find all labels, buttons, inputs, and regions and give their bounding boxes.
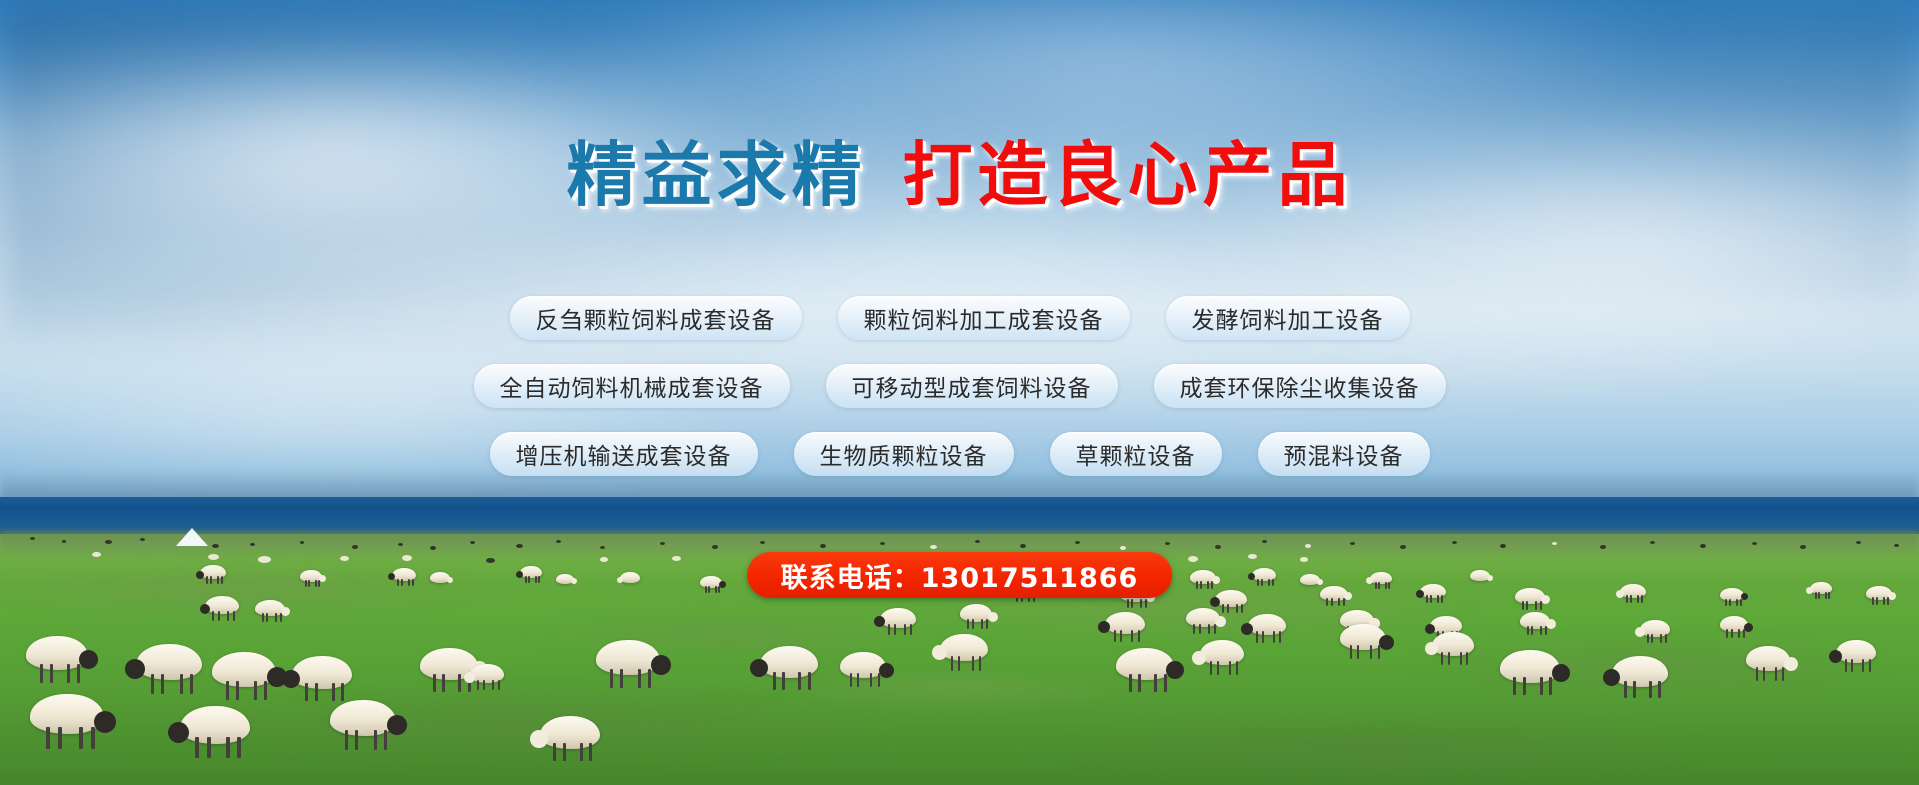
sheep-leg [894, 624, 896, 635]
sheep-leg [1660, 634, 1662, 643]
sheep-leg [79, 727, 83, 749]
sheep-leg [1876, 597, 1878, 605]
distant-livestock-speck [1856, 541, 1861, 544]
sheep-leg [1350, 645, 1352, 659]
sheep-leg [1140, 599, 1142, 608]
sheep-leg [210, 576, 212, 584]
sheep-leg [67, 664, 70, 683]
sheep-leg [1236, 604, 1238, 613]
sheep-leg [433, 674, 436, 692]
distant-livestock-speck [672, 556, 681, 561]
distant-livestock-speck [140, 538, 145, 541]
sheep-head [200, 604, 210, 614]
sheep-head [1616, 590, 1624, 598]
contact-phone-bar[interactable]: 联系电话：13017511866 [747, 552, 1173, 598]
product-pill-fanchu[interactable]: 反刍颗粒饲料成套设备 [510, 296, 802, 340]
distant-livestock-speck [1075, 541, 1080, 544]
product-pill-keli-jiagong[interactable]: 颗粒饲料加工成套设备 [838, 296, 1130, 340]
sheep-leg [1200, 581, 1202, 589]
sheep-leg [1138, 674, 1141, 692]
sheep-leg [397, 579, 399, 586]
sheep-leg [236, 681, 239, 700]
product-pill-caokeli[interactable]: 草颗粒设备 [1050, 432, 1222, 476]
sheep-leg [1665, 634, 1667, 643]
headline: 精益求精打造良心产品 [0, 140, 1919, 210]
sheep-leg [50, 664, 53, 683]
sheep-leg [374, 730, 377, 750]
sheep-leg [1114, 630, 1116, 642]
distant-livestock-speck [660, 542, 665, 545]
sheep-head [1744, 623, 1753, 632]
sheep-leg [262, 613, 264, 622]
distant-livestock-speck [975, 540, 980, 543]
sheep-leg [1145, 599, 1147, 608]
distant-livestock-speck [600, 557, 608, 562]
sheep-leg [1279, 631, 1281, 643]
sheep-leg [525, 576, 527, 583]
product-pill-quanzidong[interactable]: 全自动饲料机械成套设备 [474, 364, 790, 408]
sheep-head [1192, 651, 1206, 665]
sheep-leg [1540, 677, 1543, 695]
sheep-leg [161, 674, 164, 694]
sheep-leg [1649, 681, 1652, 698]
sheep-leg [91, 727, 95, 749]
sheep-head [1784, 657, 1798, 671]
sheep-head [530, 730, 548, 748]
sheep-leg [151, 674, 154, 694]
sheep-leg [580, 743, 583, 761]
sheep-leg [1210, 661, 1212, 675]
sheep-leg [1845, 659, 1847, 672]
sheep-head [1635, 627, 1645, 637]
sheep-leg [1164, 674, 1167, 692]
sheep-leg [355, 730, 358, 750]
sheep-head [932, 645, 947, 660]
sheep-leg [1388, 582, 1390, 589]
sheep-leg [401, 579, 403, 586]
distant-livestock-speck [1248, 554, 1257, 559]
sheep-head [651, 655, 671, 675]
distant-livestock-speck [486, 558, 495, 563]
sheep-leg [1872, 597, 1874, 605]
sheep-leg [1129, 674, 1132, 692]
distant-livestock-speck [1752, 542, 1757, 545]
sheep-leg [1782, 667, 1784, 681]
sheep-leg [217, 576, 219, 584]
sheep-leg [46, 727, 50, 749]
sheep-leg [1437, 595, 1439, 603]
sheep-leg [553, 743, 556, 761]
sheep-leg [1196, 581, 1198, 589]
sheep-leg [705, 586, 707, 593]
distant-livestock-speck [1452, 541, 1457, 544]
sheep-leg [1535, 601, 1537, 610]
distant-livestock-speck [1165, 542, 1170, 545]
sheep-leg [483, 680, 485, 690]
sheep-head [94, 711, 116, 733]
sheep-leg [384, 730, 387, 750]
sheep-leg [1637, 595, 1639, 603]
sheep-leg [1261, 579, 1263, 586]
sheep-leg [237, 737, 241, 758]
distant-livestock-speck [340, 556, 349, 561]
distant-livestock-speck [92, 552, 101, 557]
sheep-leg [412, 579, 414, 586]
distant-livestock-speck [1650, 541, 1655, 544]
sheep-leg [341, 683, 344, 701]
distant-livestock-speck [1500, 544, 1506, 548]
sheep-leg [1743, 629, 1745, 638]
sheep-leg [1222, 604, 1224, 613]
sheep-leg [538, 576, 540, 583]
sheep-leg [1273, 631, 1275, 643]
distant-livestock-speck [352, 545, 358, 549]
sheep-leg [1869, 659, 1871, 672]
sheep-leg [782, 672, 785, 690]
sheep-leg [1214, 624, 1216, 634]
distant-livestock-speck [712, 545, 718, 549]
sheep-leg [1154, 674, 1157, 692]
sheep-leg [1326, 598, 1328, 606]
sheep-leg [1729, 599, 1731, 606]
sheep-leg [315, 683, 318, 701]
product-pill-huanbao-chuchen[interactable]: 成套环保除尘收集设备 [1154, 364, 1446, 408]
sheep-leg [1127, 599, 1129, 608]
sheep-leg [233, 611, 235, 621]
sheep-leg [535, 576, 537, 583]
sheep-leg [808, 672, 811, 690]
sheep-head [125, 659, 145, 679]
sheep-leg [1647, 634, 1649, 643]
sheep-head [988, 612, 998, 622]
sheep-leg [1549, 677, 1552, 695]
distant-livestock-speck [1350, 542, 1355, 545]
sheep-leg [1545, 626, 1547, 635]
sheep-leg [1736, 599, 1738, 606]
promotional-banner: 精益求精打造良心产品 反刍颗粒饲料成套设备 颗粒饲料加工成套设备 发酵饲料加工设… [0, 0, 1919, 785]
sheep-leg [610, 669, 613, 688]
sheep-leg [1441, 652, 1443, 665]
sheep-leg [563, 743, 566, 761]
distant-livestock-speck [760, 541, 765, 544]
sheep-head [1487, 575, 1493, 581]
sheep-leg [1207, 581, 1209, 589]
sheep-head [282, 670, 300, 688]
sheep-leg [318, 580, 320, 587]
product-category-list: 反刍颗粒饲料成套设备 颗粒饲料加工成套设备 发酵饲料加工设备 全自动饲料机械成套… [0, 296, 1919, 500]
sheep-leg [1726, 629, 1728, 638]
sheep-leg [951, 656, 953, 671]
distant-livestock-speck [402, 555, 412, 561]
headline-red-text: 打造良心产品 [903, 134, 1353, 216]
distant-livestock-speck [1305, 544, 1311, 548]
sheep-leg [1199, 624, 1201, 634]
sheep-leg [1731, 629, 1733, 638]
sheep-leg [986, 619, 988, 629]
distant-livestock-speck [62, 540, 66, 543]
sheep-leg [1883, 597, 1885, 605]
distant-livestock-speck [470, 541, 475, 544]
sheep-head [1829, 650, 1842, 663]
sheep-head [447, 577, 453, 583]
sheep-leg [1658, 681, 1661, 698]
sheep-leg [1825, 592, 1827, 599]
sheep-leg [1229, 661, 1231, 675]
sheep-leg [798, 672, 801, 690]
sheep-head [1215, 616, 1226, 627]
sheep-head [617, 577, 623, 583]
sheep-leg [1257, 579, 1259, 586]
sheep-leg [195, 737, 199, 758]
sheep-leg [206, 576, 208, 584]
sheep-head [281, 607, 290, 616]
sheep-leg [1523, 677, 1526, 695]
sheep-head [196, 571, 204, 579]
sheep-leg [275, 613, 277, 622]
product-pill-keyidong[interactable]: 可移动型成套饲料设备 [826, 364, 1118, 408]
sheep-leg [408, 579, 410, 586]
sheep-leg [77, 664, 80, 683]
sheep-head [387, 715, 407, 735]
distant-livestock-speck [1188, 556, 1198, 562]
sheep-leg [878, 673, 880, 687]
headline-blue-text: 精益求精 [567, 134, 867, 216]
sheep-head [464, 672, 475, 683]
sheep-leg [207, 737, 211, 758]
sheep-leg [40, 664, 43, 683]
sheep-leg [1430, 595, 1432, 603]
sheep-leg [442, 674, 445, 692]
sheep-leg [498, 680, 500, 690]
sheep-leg [1513, 677, 1516, 695]
sheep-leg [1138, 630, 1140, 642]
distant-livestock-speck [212, 544, 219, 548]
sheep-leg [1851, 659, 1853, 672]
sheep-head [1552, 664, 1570, 682]
sheep-leg [1527, 626, 1529, 635]
sheep-leg [1522, 601, 1524, 610]
distant-livestock-speck [430, 546, 436, 550]
sheep-leg [958, 656, 960, 671]
sheep-leg [1756, 667, 1758, 681]
distant-livestock-speck [1894, 544, 1899, 547]
product-row-1: 反刍颗粒饲料成套设备 颗粒饲料加工成套设备 发酵饲料加工设备 [0, 296, 1919, 340]
sheep-leg [218, 611, 220, 621]
distant-livestock-speck [1700, 544, 1706, 548]
sheep-leg [1241, 604, 1243, 613]
sheep-leg [1426, 595, 1428, 603]
sheep-leg [1633, 681, 1636, 698]
distant-livestock-speck [30, 537, 35, 540]
sheep-leg [1375, 582, 1377, 589]
distant-livestock-speck [1120, 546, 1126, 550]
sheep-leg [1460, 652, 1462, 665]
sheep-leg [1540, 601, 1542, 610]
sheep-leg [1626, 595, 1628, 603]
sheep-leg [58, 727, 62, 749]
sheep-leg [1378, 645, 1380, 659]
sheep-leg [1385, 582, 1387, 589]
product-pill-yuhunliao[interactable]: 预混料设备 [1258, 432, 1430, 476]
sheep-leg [315, 580, 317, 587]
distant-livestock-speck [1215, 545, 1221, 549]
product-pill-shengwuzhi[interactable]: 生物质颗粒设备 [794, 432, 1014, 476]
sheep-leg [1725, 599, 1727, 606]
sheep-leg [1630, 595, 1632, 603]
sheep-leg [589, 743, 592, 761]
sheep-leg [1343, 598, 1345, 606]
sheep-leg [773, 672, 776, 690]
sheep-leg [972, 656, 974, 671]
distant-livestock-speck [556, 540, 561, 543]
sheep-leg [972, 619, 974, 629]
sheep-head [1317, 579, 1323, 585]
distant-livestock-speck [1400, 545, 1406, 549]
distant-livestock-speck [1262, 540, 1267, 543]
sheep-head [1425, 642, 1438, 655]
sheep-leg [332, 683, 335, 701]
sheep-leg [1120, 630, 1122, 642]
distant-livestock-speck [820, 544, 826, 548]
sheep-head [1416, 590, 1424, 598]
sheep-leg [718, 586, 720, 593]
product-pill-zengyaji[interactable]: 增压机输送成套设备 [490, 432, 758, 476]
product-row-3: 增压机输送成套设备 生物质颗粒设备 草颗粒设备 预混料设备 [0, 432, 1919, 476]
sheep-leg [305, 580, 307, 587]
sheep-leg [180, 674, 183, 694]
sheep-head [1541, 595, 1550, 604]
sheep-leg [305, 683, 308, 701]
distant-livestock-speck [880, 542, 885, 545]
sheep-leg [910, 624, 912, 635]
sheep-leg [850, 673, 852, 687]
distant-livestock-speck [208, 554, 219, 560]
yurt-tent [176, 528, 208, 546]
distant-livestock-speck [1600, 545, 1606, 549]
sheep-leg [1272, 579, 1274, 586]
sheep-leg [190, 674, 193, 694]
distant-livestock-speck [600, 546, 605, 549]
sheep-leg [1331, 598, 1333, 606]
sheep-leg [1763, 667, 1765, 681]
sheep-leg [967, 619, 969, 629]
distant-livestock-speck [1552, 542, 1557, 545]
distant-livestock-speck [105, 540, 112, 544]
sheep-leg [981, 619, 983, 629]
sheep-leg [254, 681, 257, 700]
sheep-leg [280, 613, 282, 622]
distant-livestock-speck [1800, 545, 1806, 549]
sheep [620, 572, 640, 583]
distant-livestock-speck [1300, 557, 1308, 562]
sheep-leg [345, 730, 348, 750]
distant-livestock-speck [250, 543, 255, 546]
distant-livestock-speck [516, 544, 523, 548]
sheep-leg [1236, 661, 1238, 675]
product-pill-fajiao[interactable]: 发酵饲料加工设备 [1166, 296, 1410, 340]
sheep-head [1546, 619, 1556, 629]
sheep-leg [888, 624, 890, 635]
sheep-leg [620, 669, 623, 688]
sheep-leg [1624, 681, 1627, 698]
sheep-leg [1540, 626, 1542, 635]
product-row-2: 全自动饲料机械成套设备 可移动型成套饲料设备 成套环保除尘收集设备 [0, 364, 1919, 408]
sheep-leg [1268, 579, 1270, 586]
sheep-leg [226, 737, 230, 758]
sheep-leg [1740, 599, 1742, 606]
sheep-leg [1828, 592, 1830, 599]
distant-livestock-speck [258, 556, 271, 563]
distant-livestock-speck [930, 545, 937, 549]
sheep-leg [904, 624, 906, 635]
sheep-leg [1217, 661, 1219, 675]
distant-livestock-speck [398, 543, 403, 546]
sheep-leg [458, 674, 461, 692]
distant-livestock-speck [1020, 544, 1026, 548]
sheep-leg [638, 669, 641, 688]
sheep-leg [1815, 592, 1817, 599]
sheep-leg [1227, 604, 1229, 613]
sheep-head [1603, 669, 1620, 686]
sheep-head [1425, 624, 1435, 634]
sheep-leg [1775, 667, 1777, 681]
distant-livestock-speck [300, 541, 304, 544]
sheep-leg [1448, 652, 1450, 665]
sheep-head [1210, 597, 1220, 607]
sheep-leg [226, 681, 229, 700]
sheep-leg [715, 586, 717, 593]
